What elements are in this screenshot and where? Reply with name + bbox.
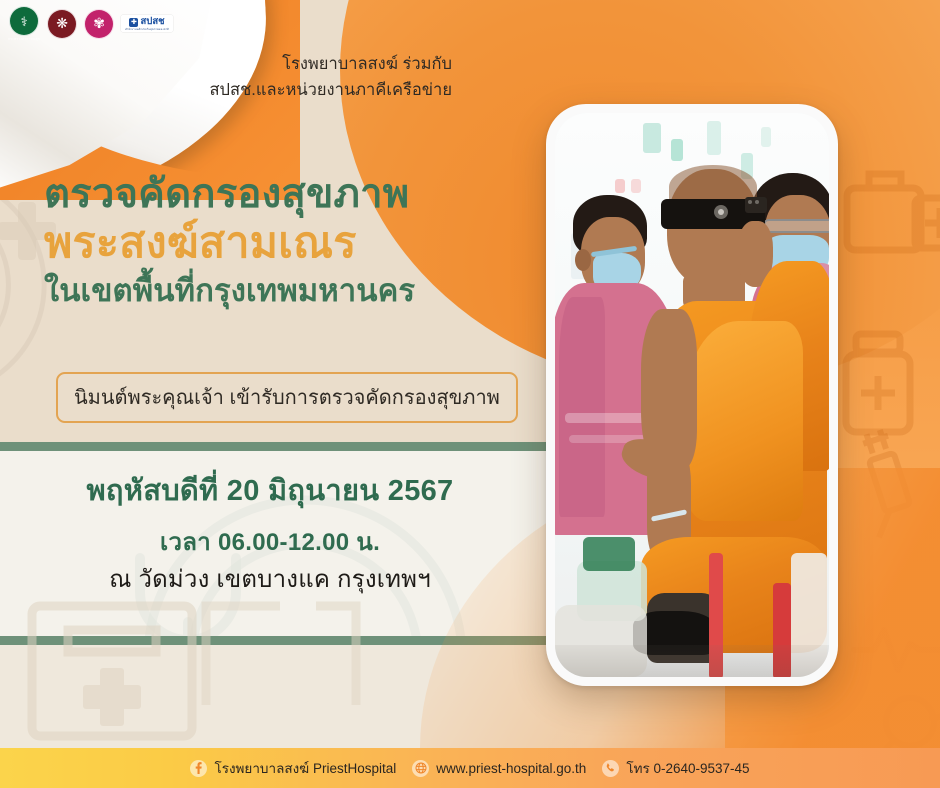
nhso-logo: ✚ สปสช สำนักงานหลักประกันสุขภาพแห่งชาติ (121, 15, 173, 32)
pink-institution-icon: ✾ (84, 9, 114, 39)
headline-line-1: ตรวจคัดกรองสุขภาพ (44, 172, 415, 217)
footer-website[interactable]: www.priest-hospital.go.th (412, 760, 586, 777)
partner-logos: ⚕ กระทรวงสาธารณสุข ❋ ✾ ✚ สปสช สำนักงานหล… (8, 6, 173, 41)
phone-mockup (546, 104, 838, 686)
green-divider-bottom (0, 636, 560, 645)
facebook-icon (190, 760, 207, 777)
globe-icon (412, 760, 429, 777)
royal-emblem-icon: ❋ (47, 9, 77, 39)
footer-phone[interactable]: โทร 0-2640-9537-45 (602, 757, 749, 779)
footer-bar: โรงพยาบาลสงฆ์ PriestHospital www.priest-… (0, 748, 940, 788)
ministry-of-public-health-logo: ⚕ กระทรวงสาธารณสุข (8, 6, 40, 41)
nhso-mark-icon: ✚ (129, 18, 138, 27)
nhso-logo-subtitle: สำนักงานหลักประกันสุขภาพแห่งชาติ (125, 28, 169, 31)
organizer-header: โรงพยาบาลสงฆ์ ร่วมกับ สปสช.และหน่วยงานภา… (0, 52, 452, 103)
event-time: เวลา 06.00-12.00 น. (0, 527, 540, 558)
page-title: ตรวจคัดกรองสุขภาพ พระสงฆ์สามเณร ในเขตพื้… (44, 172, 415, 309)
pink-institution-logo: ✾ (84, 9, 114, 39)
nhso-logo-text: สปสช (140, 17, 164, 27)
event-date: พฤหัสบดีที่ 20 มิถุนายน 2567 (0, 473, 540, 509)
invitation-callout: นิมนต์พระคุณเจ้า เข้ารับการตรวจคัดกรองสุ… (56, 372, 518, 423)
phone-icon (602, 760, 619, 777)
moph-logo-caption: กระทรวงสาธารณสุข (8, 37, 40, 41)
footer-phone-label: โทร 0-2640-9537-45 (626, 757, 749, 779)
footer-facebook[interactable]: โรงพยาบาลสงฆ์ PriestHospital (190, 757, 396, 779)
event-photo (555, 113, 829, 677)
headline-line-3: ในเขตพื้นที่กรุงเทพมหานคร (44, 272, 415, 309)
organizer-line-1: โรงพยาบาลสงฆ์ ร่วมกับ (0, 52, 452, 78)
moph-emblem-icon: ⚕ (9, 6, 39, 36)
poster-canvas: ⚕ กระทรวงสาธารณสุข ❋ ✾ ✚ สปสช สำนักงานหล… (0, 0, 940, 788)
footer-facebook-label: โรงพยาบาลสงฆ์ PriestHospital (214, 757, 396, 779)
event-place: ณ วัดม่วง เขตบางแค กรุงเทพฯ (0, 564, 540, 595)
footer-website-label: www.priest-hospital.go.th (436, 761, 586, 776)
organizer-line-2: สปสช.และหน่วยงานภาคีเครือข่าย (0, 78, 452, 104)
royal-emblem-logo: ❋ (47, 9, 77, 39)
event-details: พฤหัสบดีที่ 20 มิถุนายน 2567 เวลา 06.00-… (0, 473, 540, 596)
headline-line-2: พระสงฆ์สามเณร (44, 218, 415, 269)
